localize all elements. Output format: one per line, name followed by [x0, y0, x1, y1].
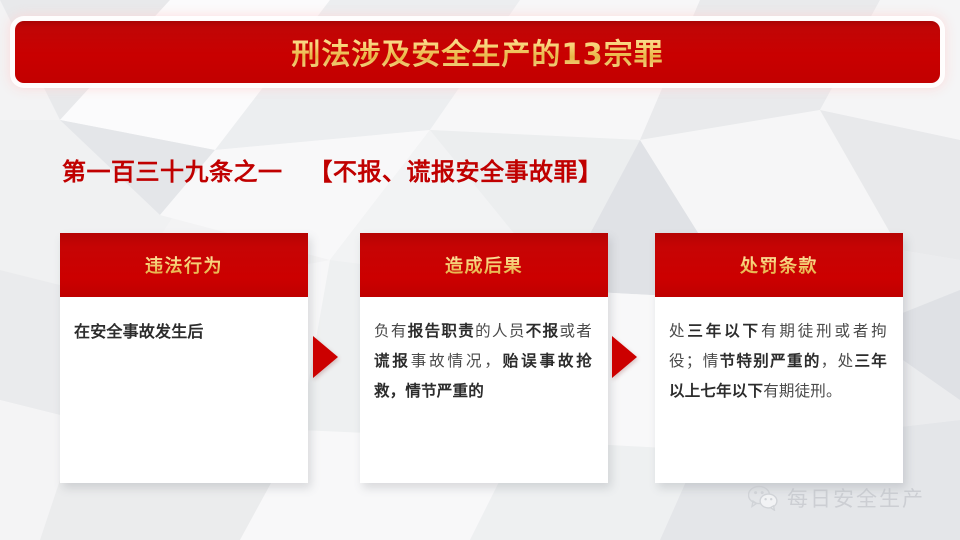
- card-header-label: 处罚条款: [740, 252, 818, 278]
- card-header-violation-behavior: 违法行为: [60, 233, 308, 297]
- text-run-bold: 节特别严重的: [720, 352, 821, 370]
- text-run-bold: 不报: [526, 322, 560, 340]
- text-run-regular: ，处: [821, 352, 855, 370]
- subtitle-article-number: 第一百三十九条之一: [62, 158, 283, 186]
- text-run-regular: 的人员: [475, 322, 526, 340]
- card-header-label: 造成后果: [445, 252, 523, 278]
- text-run-regular: 处: [669, 322, 687, 340]
- card-violation-behavior: 违法行为 在安全事故发生后: [60, 233, 308, 483]
- text-run-bold: 报告职责: [408, 322, 475, 340]
- wechat-icon: [748, 485, 778, 511]
- card-header-consequence: 造成后果: [360, 233, 608, 297]
- title-banner: 刑法涉及安全生产的13宗罪: [15, 21, 940, 83]
- text-run-bold: 在安全事故发生后: [74, 322, 204, 341]
- page-title: 刑法涉及安全生产的13宗罪: [291, 31, 663, 73]
- text-run-bold: 三年以下: [687, 322, 761, 340]
- watermark-label: 每日安全生产: [787, 483, 925, 513]
- arrow-right-icon: [313, 336, 338, 378]
- card-penalty-clause: 处罚条款 处三年以下有期徒刑或者拘役；情节特别严重的，处三年以上七年以下有期徒刑…: [655, 233, 903, 483]
- subtitle-article-line: 第一百三十九条之一【不报、谎报安全事故罪】: [62, 152, 603, 187]
- slide-canvas: 刑法涉及安全生产的13宗罪 第一百三十九条之一【不报、谎报安全事故罪】 违法行为…: [0, 0, 960, 540]
- watermark: 每日安全生产: [748, 483, 925, 513]
- card-body-violation-behavior: 在安全事故发生后: [60, 297, 308, 358]
- card-body-penalty-clause: 处三年以下有期徒刑或者拘役；情节特别严重的，处三年以上七年以下有期徒刑。: [655, 297, 903, 416]
- text-run-regular: 或者: [559, 322, 592, 340]
- subtitle-crime-name: 【不报、谎报安全事故罪】: [309, 158, 603, 186]
- text-run-bold: 谎报: [374, 352, 411, 370]
- arrow-right-icon: [612, 336, 637, 378]
- card-consequence: 造成后果 负有报告职责的人员不报或者谎报事故情况，贻误事故抢救，情节严重的: [360, 233, 608, 483]
- text-run-regular: 有期徒刑。: [763, 382, 842, 400]
- card-header-label: 违法行为: [145, 252, 223, 278]
- card-body-consequence: 负有报告职责的人员不报或者谎报事故情况，贻误事故抢救，情节严重的: [360, 297, 608, 416]
- text-run-regular: 事故情况，: [411, 352, 503, 370]
- text-run-regular: 负有: [374, 322, 408, 340]
- card-header-penalty-clause: 处罚条款: [655, 233, 903, 297]
